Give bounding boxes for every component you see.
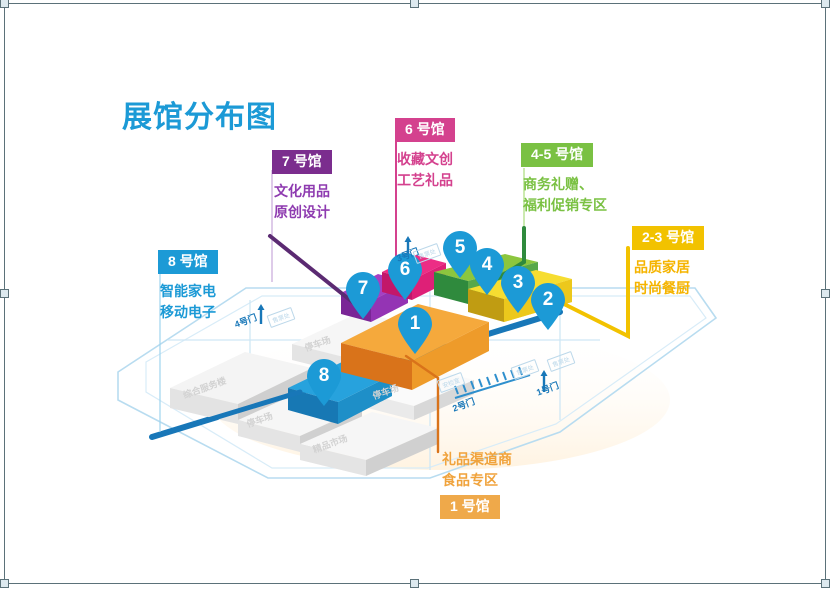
exhibition-hall-map: 展馆分布图 8 号馆 智能家电 移动电子 7 号馆 文化用品 原创设计 6 号馆… xyxy=(0,0,834,590)
callout-hall-8-body: 智能家电 移动电子 xyxy=(158,274,218,323)
callout-hall-23-line1: 品质家居 xyxy=(634,257,702,278)
callout-hall-23-header: 2-3 号馆 xyxy=(632,226,704,250)
callout-hall-45-body: 商务礼赠、 福利促销专区 xyxy=(521,167,609,216)
callout-hall-23-line2: 时尚餐厨 xyxy=(634,278,702,299)
callout-hall-8-line2: 移动电子 xyxy=(160,302,216,323)
callout-hall-7[interactable]: 7 号馆 文化用品 原创设计 xyxy=(272,150,332,223)
map-pin-5-label: 5 xyxy=(441,235,479,261)
callout-hall-1[interactable]: 礼品渠道商 食品专区 1 号馆 xyxy=(440,442,514,519)
map-pin-5[interactable]: 5 xyxy=(441,231,479,279)
callout-hall-8[interactable]: 8 号馆 智能家电 移动电子 xyxy=(158,250,218,323)
callout-hall-7-header: 7 号馆 xyxy=(272,150,332,174)
map-pin-8-label: 8 xyxy=(305,363,343,389)
callout-hall-1-line2: 食品专区 xyxy=(442,470,512,491)
callout-hall-6-line1: 收藏文创 xyxy=(397,149,453,170)
map-pin-8[interactable]: 8 xyxy=(305,359,343,407)
callout-hall-23-body: 品质家居 时尚餐厨 xyxy=(632,250,704,299)
callout-hall-7-line2: 原创设计 xyxy=(274,202,330,223)
callout-hall-45-header: 4-5 号馆 xyxy=(521,143,593,167)
callout-hall-45[interactable]: 4-5 号馆 商务礼赠、 福利促销专区 xyxy=(521,143,609,216)
callout-hall-1-header: 1 号馆 xyxy=(440,495,500,519)
callout-hall-6[interactable]: 6 号馆 收藏文创 工艺礼品 xyxy=(395,118,455,191)
map-pin-1-label: 1 xyxy=(396,311,434,337)
map-pin-7-label: 7 xyxy=(344,276,382,302)
callout-hall-1-line1: 礼品渠道商 xyxy=(442,449,512,470)
callout-hall-45-line1: 商务礼赠、 xyxy=(523,174,607,195)
page-title: 展馆分布图 xyxy=(122,92,277,136)
callout-hall-6-line2: 工艺礼品 xyxy=(397,170,453,191)
callout-hall-23[interactable]: 2-3 号馆 品质家居 时尚餐厨 xyxy=(632,226,704,299)
callout-hall-6-header: 6 号馆 xyxy=(395,118,455,142)
map-pin-7[interactable]: 7 xyxy=(344,272,382,320)
callout-hall-7-line1: 文化用品 xyxy=(274,181,330,202)
callout-hall-6-body: 收藏文创 工艺礼品 xyxy=(395,142,455,191)
callout-hall-8-line1: 智能家电 xyxy=(160,281,216,302)
callout-hall-8-header: 8 号馆 xyxy=(158,250,218,274)
callout-hall-1-body: 礼品渠道商 食品专区 xyxy=(440,442,514,495)
map-pin-1[interactable]: 1 xyxy=(396,307,434,355)
callout-hall-45-line2: 福利促销专区 xyxy=(523,195,607,216)
callout-hall-7-body: 文化用品 原创设计 xyxy=(272,174,332,223)
